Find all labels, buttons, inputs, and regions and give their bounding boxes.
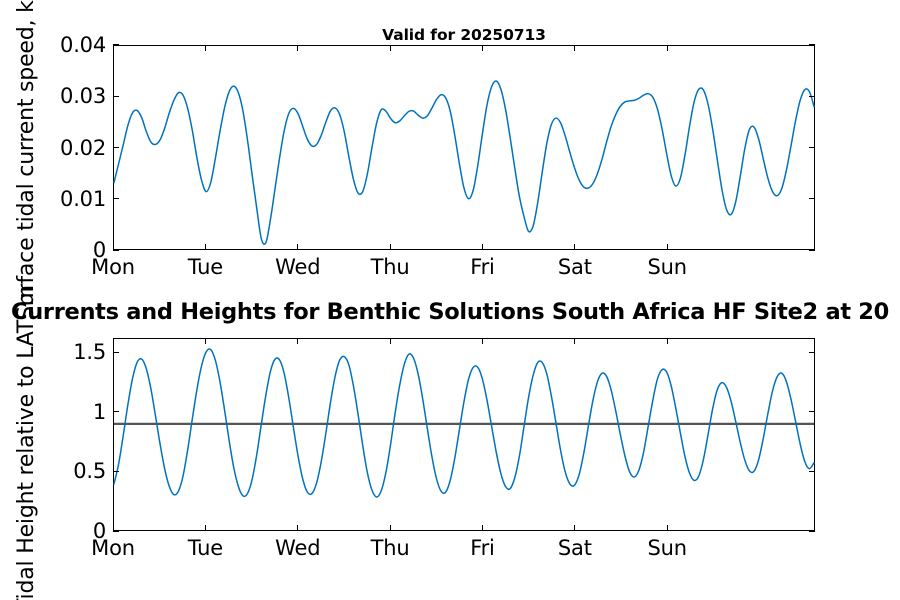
yticklabel-0: 0 — [93, 238, 106, 262]
ytick-0 — [809, 530, 815, 531]
ytick-0 — [809, 249, 815, 250]
top-chart-data-line — [114, 81, 814, 244]
ytick-0 — [113, 530, 119, 531]
ytick-0p03 — [113, 96, 119, 97]
top-chart-plot-area — [114, 46, 814, 249]
xtick-tue — [205, 338, 206, 344]
ytick-0p5 — [113, 471, 119, 472]
bottom-chart-axes — [113, 338, 815, 531]
xtick-sat — [574, 338, 575, 344]
yticklabel-1: 1 — [93, 400, 106, 424]
ytick-0 — [113, 249, 119, 250]
yticklabel-0p04: 0.04 — [60, 33, 106, 57]
xtick-sun — [667, 45, 668, 51]
xtick-wed — [297, 525, 298, 531]
ytick-1 — [113, 411, 119, 412]
xtick-sun — [667, 525, 668, 531]
figure-canvas: Valid for 20250713 Surface tidal current… — [0, 0, 900, 600]
ytick-0p04 — [809, 44, 815, 45]
ytick-0p02 — [809, 147, 815, 148]
xticklabel-thu: Thu — [371, 536, 410, 560]
xticklabel-thu: Thu — [371, 255, 410, 279]
xticklabel-wed: Wed — [275, 536, 320, 560]
xtick-thu — [390, 525, 391, 531]
xticklabel-fri: Fri — [470, 536, 494, 560]
yticklabel-0p01: 0.01 — [60, 187, 106, 211]
bottom-chart-plot-area — [114, 339, 814, 530]
yticklabel-0p02: 0.02 — [60, 136, 106, 160]
xtick-tue — [205, 525, 206, 531]
xtick-tue — [205, 244, 206, 250]
page-title: Currents and Heights for Benthic Solutio… — [11, 299, 889, 325]
xticklabel-sun: Sun — [648, 255, 687, 279]
ytick-0p02 — [113, 147, 119, 148]
ytick-0p5 — [809, 471, 815, 472]
xtick-fri — [482, 244, 483, 250]
xtick-sun — [667, 338, 668, 344]
xticklabel-sat: Sat — [558, 255, 592, 279]
ytick-1p5 — [809, 352, 815, 353]
xticklabel-fri: Fri — [470, 255, 494, 279]
xtick-fri — [482, 45, 483, 51]
xticklabel-sat: Sat — [558, 536, 592, 560]
ytick-0p01 — [809, 198, 815, 199]
xtick-mon — [113, 338, 114, 344]
xtick-tue — [205, 45, 206, 51]
ytick-0p01 — [113, 198, 119, 199]
yticklabel-0p5: 0.5 — [73, 459, 106, 483]
top-chart-ylabel: Surface tidal current speed, kn — [14, 0, 39, 320]
xtick-wed — [297, 244, 298, 250]
xtick-thu — [390, 338, 391, 344]
xtick-wed — [297, 45, 298, 51]
ytick-0p03 — [809, 96, 815, 97]
yticklabel-1p5: 1.5 — [73, 340, 106, 364]
ytick-0p04 — [113, 44, 119, 45]
xtick-fri — [482, 525, 483, 531]
xtick-thu — [390, 244, 391, 250]
xtick-mon — [113, 45, 114, 51]
xtick-sat — [574, 244, 575, 250]
xtick-sat — [574, 525, 575, 531]
yticklabel-0p03: 0.03 — [60, 84, 106, 108]
top-chart-title: Valid for 20250713 — [113, 26, 815, 44]
ytick-1 — [809, 411, 815, 412]
xtick-fri — [482, 338, 483, 344]
top-chart-axes — [113, 45, 815, 250]
xtick-sat — [574, 45, 575, 51]
bottom-chart-ylabel: Tidal Height relative to LAT, m — [14, 285, 39, 600]
xtick-wed — [297, 338, 298, 344]
xticklabel-sun: Sun — [648, 536, 687, 560]
xtick-sun — [667, 244, 668, 250]
yticklabel-0: 0 — [93, 519, 106, 543]
xtick-thu — [390, 45, 391, 51]
xticklabel-tue: Tue — [188, 255, 223, 279]
xticklabel-tue: Tue — [188, 536, 223, 560]
ytick-1p5 — [113, 352, 119, 353]
xticklabel-wed: Wed — [275, 255, 320, 279]
